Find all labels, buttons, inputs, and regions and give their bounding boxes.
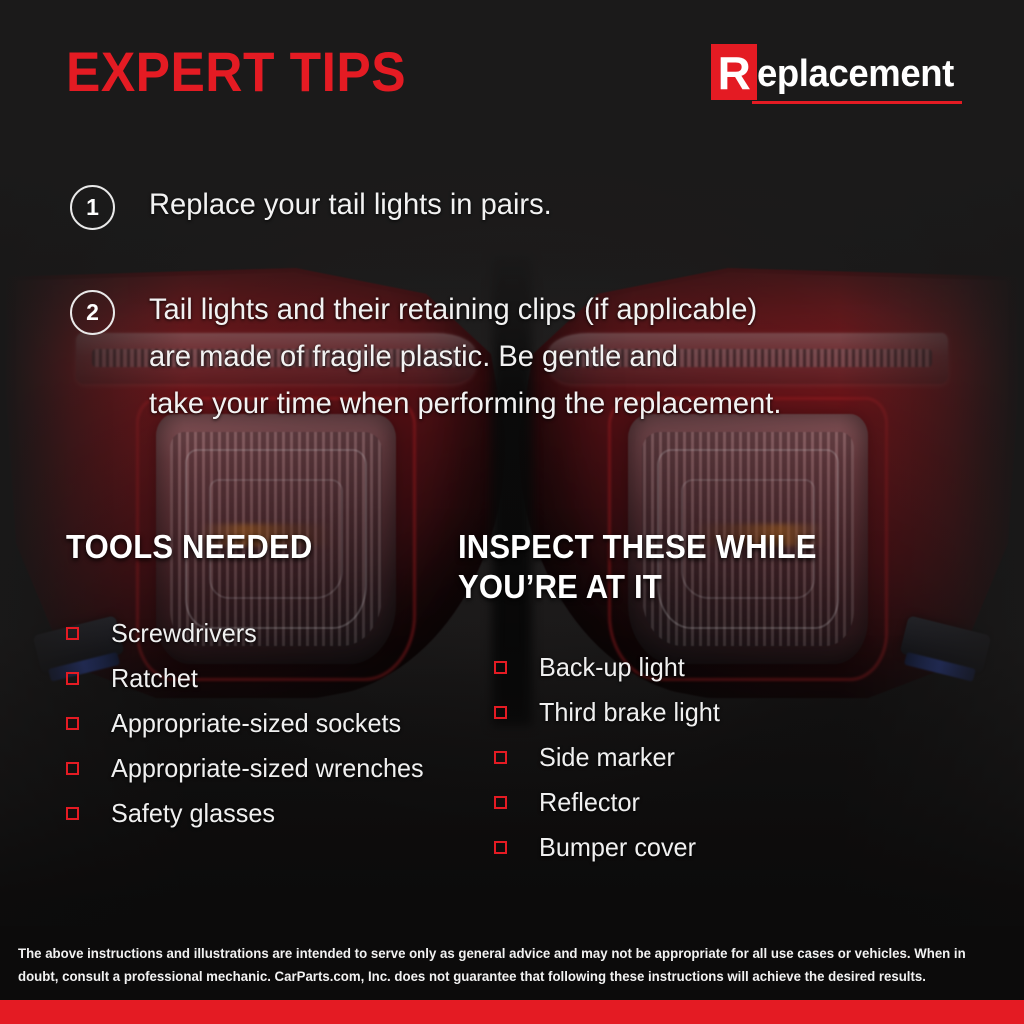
list-item-label: Reflector — [539, 780, 640, 825]
list-item: Ratchet — [66, 656, 466, 701]
logo-initial-badge: R — [711, 44, 757, 100]
logo-underline — [752, 101, 962, 104]
checkbox-icon — [494, 796, 507, 809]
list-item: Safety glasses — [66, 791, 466, 836]
page-title: EXPERT TIPS — [66, 44, 406, 100]
tools-needed-heading: TOOLS NEEDED — [66, 527, 442, 567]
logo-wordmark: eplacement — [757, 51, 954, 100]
list-item: Screwdrivers — [66, 611, 466, 656]
tip-text-2: Tail lights and their retaining clips (i… — [149, 286, 781, 427]
list-item: Reflector — [494, 780, 878, 825]
checkbox-icon — [66, 762, 79, 775]
list-item-label: Ratchet — [111, 656, 198, 701]
list-item-label: Appropriate-sized wrenches — [111, 746, 424, 791]
tip-text-1: Replace your tail lights in pairs. — [149, 181, 552, 228]
tip-item-1: 1 Replace your tail lights in pairs. — [70, 181, 564, 230]
footer-disclaimer: The above instructions and illustrations… — [0, 926, 1024, 1000]
list-item: Third brake light — [494, 690, 878, 735]
tip-number-badge-2: 2 — [70, 290, 115, 335]
tip-number-badge-1: 1 — [70, 185, 115, 230]
disclaimer-text: The above instructions and illustrations… — [18, 942, 986, 988]
inspect-these-section: INSPECT THESE WHILE YOU’RE AT IT Back-up… — [458, 527, 878, 870]
checkbox-icon — [66, 807, 79, 820]
list-item-label: Bumper cover — [539, 825, 696, 870]
checkbox-icon — [494, 751, 507, 764]
list-item-label: Third brake light — [539, 690, 720, 735]
list-item-label: Safety glasses — [111, 791, 275, 836]
list-item: Appropriate-sized wrenches — [66, 746, 466, 791]
list-item-label: Appropriate-sized sockets — [111, 701, 401, 746]
tools-needed-list: Screwdrivers Ratchet Appropriate-sized s… — [66, 611, 466, 836]
list-item: Side marker — [494, 735, 878, 780]
checkbox-icon — [494, 706, 507, 719]
checkbox-icon — [66, 717, 79, 730]
list-item-label: Side marker — [539, 735, 675, 780]
inspect-these-list: Back-up light Third brake light Side mar… — [458, 645, 878, 870]
list-item: Back-up light — [494, 645, 878, 690]
checkbox-icon — [494, 841, 507, 854]
list-item: Bumper cover — [494, 825, 878, 870]
checkbox-icon — [494, 661, 507, 674]
logo-lockup: R eplacement — [711, 44, 962, 100]
content-layer: EXPERT TIPS R eplacement 1 Replace your … — [0, 0, 1024, 1024]
checkbox-icon — [66, 672, 79, 685]
expert-tips-infographic: EXPERT TIPS R eplacement 1 Replace your … — [0, 0, 1024, 1024]
checkbox-icon — [66, 627, 79, 640]
tip-item-2: 2 Tail lights and their retaining clips … — [70, 286, 801, 427]
inspect-these-heading: INSPECT THESE WHILE YOU’RE AT IT — [458, 527, 853, 607]
list-item-label: Back-up light — [539, 645, 685, 690]
bottom-accent-bar — [0, 1000, 1024, 1024]
list-item: Appropriate-sized sockets — [66, 701, 466, 746]
tools-needed-section: TOOLS NEEDED Screwdrivers Ratchet Approp… — [66, 527, 466, 836]
list-item-label: Screwdrivers — [111, 611, 257, 656]
brand-logo: R eplacement — [711, 44, 962, 104]
